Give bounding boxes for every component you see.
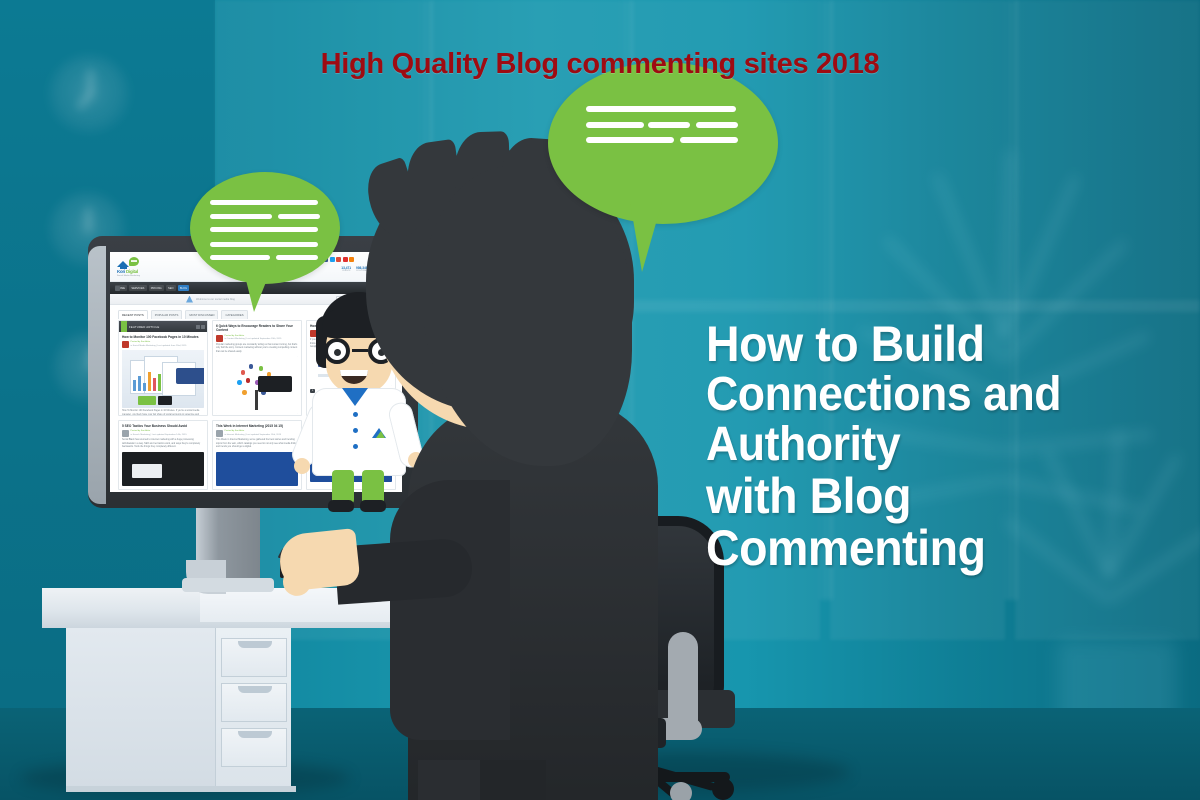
tree-infographic-illustration: [216, 356, 298, 414]
headline-line-2: Connections and Authority: [706, 370, 1162, 470]
desk-drawer[interactable]: [221, 638, 287, 677]
bubble-tail: [244, 272, 270, 312]
page-title: High Quality Blog commenting sites 2018: [0, 48, 1200, 81]
article-meta: Posted by Kori Ashein Social Media Marke…: [122, 341, 204, 348]
article-excerpt: This Week in Internet Marketing, we've g…: [216, 439, 298, 450]
desk-drawer-stack: [215, 628, 291, 788]
nav-menu-icon[interactable]: [115, 286, 120, 291]
person-shoulder: [390, 480, 510, 740]
desk-drawer[interactable]: [221, 728, 287, 767]
nav-item-services[interactable]: SERVICES: [129, 285, 146, 291]
content-tabs[interactable]: RECENT POSTS POPULAR POSTS MOST DISCUSSE…: [118, 310, 248, 319]
person-leg-left: [418, 760, 484, 800]
tab-popular-posts[interactable]: POPULAR POSTS: [151, 310, 183, 319]
site-logo-text: Kori Digital: [117, 269, 138, 274]
article-meta: Posted by Kori Ashein Search Marketing |…: [122, 430, 204, 437]
chair-caster: [712, 778, 734, 800]
article-title[interactable]: This Week in Internet Marketing (2015 04…: [216, 424, 298, 428]
article-card[interactable]: This Week in Internet Marketing (2015 04…: [212, 420, 302, 490]
tab-recent-posts[interactable]: RECENT POSTS: [118, 310, 148, 319]
cartoon-hand-left: [294, 458, 310, 474]
article-author: Posted by Kori Ashein Content Marketing …: [225, 335, 282, 342]
article-author: Posted by Kori Ashein Internet Marketing…: [225, 430, 282, 437]
dark-illustration: [122, 452, 204, 486]
featured-label: FEATURED ARTICLE: [129, 325, 159, 329]
logo-name-primary: Kori: [117, 269, 125, 274]
nav-item-blog[interactable]: BLOG: [178, 285, 190, 291]
monitor-foot: [182, 578, 274, 592]
featured-banner: FEATURED ARTICLE: [119, 321, 207, 332]
headline: How to Build Connections and Authority w…: [706, 318, 1162, 574]
headline-line-1: How to Build: [706, 318, 1162, 370]
article-title[interactable]: 6 Quick Ways to Encourage Readers to Sha…: [216, 324, 298, 333]
article-meta: Posted by Kori Ashein Internet Marketing…: [216, 430, 298, 437]
tab-most-discussed[interactable]: MOST DISCUSSED: [185, 310, 218, 319]
chat-bubble-icon: [129, 257, 139, 266]
bubble-tail: [630, 202, 662, 272]
article-date: in Search Marketing | Last updated Septe…: [131, 434, 187, 437]
article-excerpt: Popular marketing groups are constantly …: [216, 344, 298, 355]
speech-bubble-small: [190, 172, 340, 284]
article-title[interactable]: 5 SEO Tactics Your Business Should Avoid: [122, 424, 204, 428]
monitor-bezel-left: [88, 246, 106, 504]
bubble-text-lines: [190, 172, 340, 284]
article-meta: Posted by Kori Ashein Content Marketing …: [216, 335, 298, 342]
article-excerpt: How To Monitor 100 Facebook Pages in 10 …: [122, 410, 204, 416]
avatar: [216, 430, 223, 437]
article-card[interactable]: FEATURED ARTICLE How to Monitor 100 Face…: [118, 320, 208, 416]
logo-tagline: Social Media Marketing: [117, 275, 140, 277]
nav-item-seo[interactable]: SEO: [166, 285, 176, 291]
blue-illustration: [216, 452, 298, 486]
article-excerpt: Social Black has returned to internet ma…: [122, 439, 204, 450]
speech-bubble-large: [548, 62, 778, 224]
article-date: in Content Marketing | Last updated Sept…: [225, 338, 282, 341]
subbar-text: Welcome to our social media blog: [196, 298, 235, 301]
avatar: [122, 430, 129, 437]
article-author: Posted by Kori Ashein Social Media Marke…: [131, 341, 187, 348]
subbar-logo-icon: [186, 296, 193, 303]
article-date: in Social Media Marketing | Last updated…: [131, 345, 187, 348]
article-title[interactable]: How to Monitor 100 Facebook Pages in 10 …: [122, 335, 204, 339]
article-author: Posted by Kori Ashein Search Marketing |…: [131, 430, 187, 437]
article-thumbnail[interactable]: [122, 452, 204, 486]
article-card[interactable]: 6 Quick Ways to Encourage Readers to Sha…: [212, 320, 302, 416]
logo-name-secondary: Digital: [126, 269, 138, 274]
desk-base: [66, 786, 296, 792]
article-thumbnail[interactable]: [122, 350, 204, 408]
bubble-text-lines: [548, 62, 778, 224]
person-leg-right: [480, 760, 546, 800]
article-date: in Internet Marketing | Last updated Sep…: [225, 434, 282, 437]
chevron-left-icon: [196, 325, 200, 329]
illustration-banner: Kori Digital Social Media Marketing 1.84…: [0, 0, 1200, 800]
avatar: [216, 335, 223, 342]
avatar: [122, 341, 129, 348]
carousel-arrows[interactable]: [196, 325, 206, 329]
article-thumbnail[interactable]: [216, 356, 298, 414]
dashboard-illustration: [122, 350, 204, 408]
nav-item-pricing[interactable]: PRICING: [149, 285, 164, 291]
headline-line-3: with Blog Commenting: [706, 470, 1162, 574]
desk-drawer[interactable]: [221, 683, 287, 722]
bookmark-icon: [121, 321, 127, 332]
site-logo[interactable]: [117, 257, 139, 269]
article-card[interactable]: 5 SEO Tactics Your Business Should Avoid…: [118, 420, 208, 490]
chevron-right-icon: [201, 325, 205, 329]
article-thumbnail[interactable]: [216, 452, 298, 486]
